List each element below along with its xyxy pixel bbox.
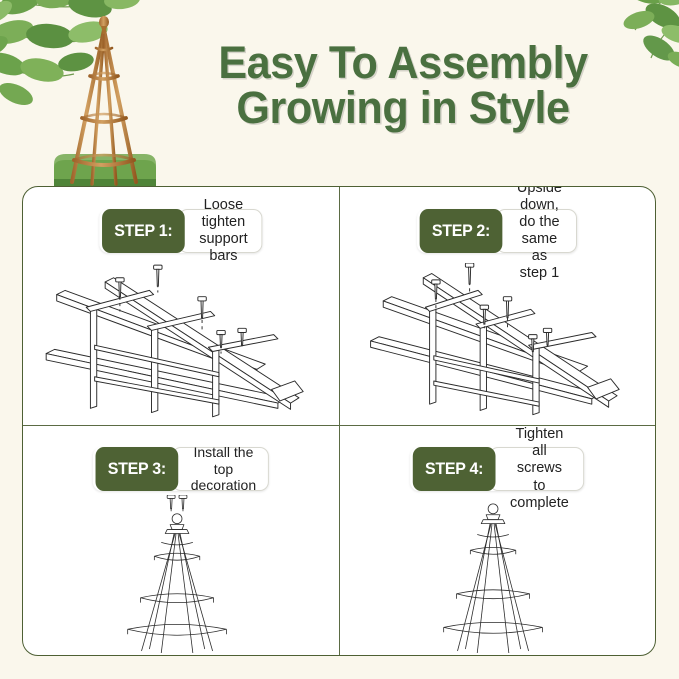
hero-obelisk-graphic [56,14,152,186]
title-line-1: Easy To Assembly [177,42,628,83]
step-badge-1: STEP 1: Loose tighten support bars [99,209,262,253]
step-badge-4: STEP 4: Tighten all screws to complete [410,447,584,491]
step-badge-3: STEP 3: Install the top decoration [93,447,269,491]
step-key-2: STEP 2: [420,209,503,253]
steps-panel: STEP 1: Loose tighten support bars [22,186,656,656]
step-key-4: STEP 4: [413,447,496,491]
step-cell-1: STEP 1: Loose tighten support bars [23,187,339,425]
step-text-3: Install the top decoration [172,447,269,491]
step-diagram-3 [23,495,339,653]
step-text-1: Loose tighten support bars [178,209,262,253]
step-cell-3: STEP 3: Install the top decoration [23,425,339,656]
step-text-4: Tighten all screws to complete [489,447,584,491]
step-text-2: Upside down, do the same as step 1 [496,209,577,253]
step-key-1: STEP 1: [102,209,185,253]
page-title: Easy To Assembly Growing in Style [168,42,638,129]
hero-product-image [18,6,168,186]
title-line-2: Growing in Style [177,87,628,128]
step-cell-4: STEP 4: Tighten all screws to complete [339,425,655,656]
step-key-3: STEP 3: [96,447,179,491]
step-diagram-2 [339,263,655,421]
poster-stage: Easy To Assembly Growing in Style STEP 1… [0,0,679,679]
step-badge-2: STEP 2: Upside down, do the same as step… [417,209,577,253]
step-diagram-4 [339,495,655,653]
step-diagram-1 [23,263,339,421]
step-cell-2: STEP 2: Upside down, do the same as step… [339,187,655,425]
